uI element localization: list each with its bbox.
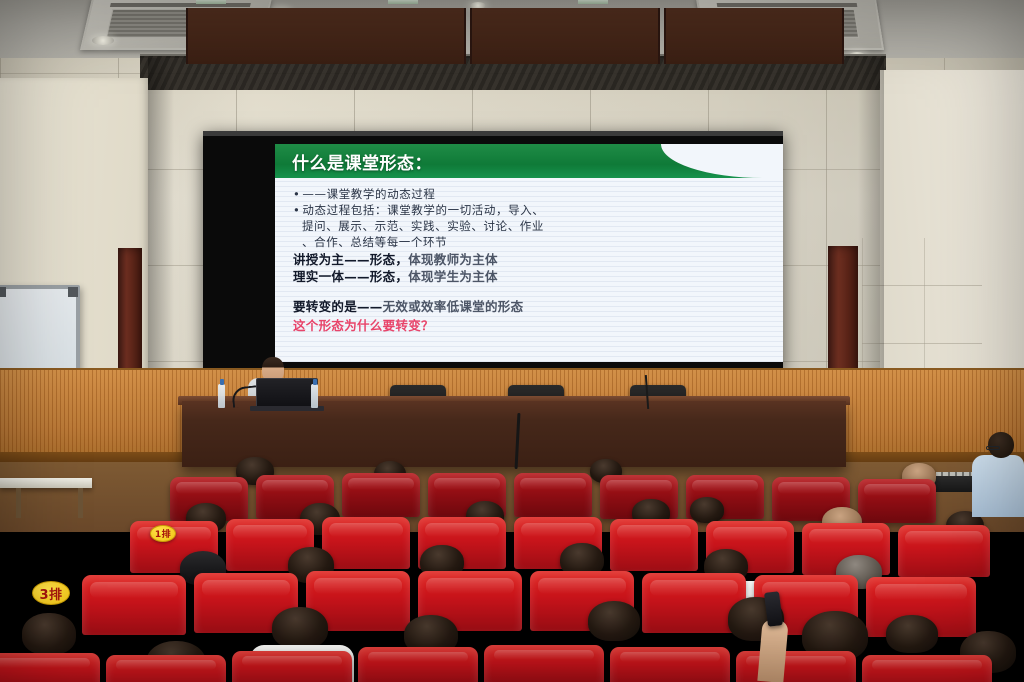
seat[interactable] [82, 575, 186, 635]
audience-area: 1排 3排 [0, 455, 1024, 682]
seat[interactable] [514, 473, 592, 517]
slide-bullet-2-line-1: 动态过程包括：课堂教学的一切活动，导入、 [302, 203, 544, 217]
attendee-head [886, 615, 938, 653]
slide-emphasis-line: 要转变的是——无效或效率低课堂的形态 [293, 298, 769, 315]
table-front-panel [186, 8, 466, 64]
lecture-hall-photo: 什么是课堂形态： •——课堂教学的动态过程 •动态过程包括：课堂教学的一切活动，… [0, 0, 1024, 682]
presentation-slide: 什么是课堂形态： •——课堂教学的动态过程 •动态过程包括：课堂教学的一切活动，… [275, 144, 783, 362]
slide-bullet-1-line-1: ——课堂教学的动态过程 [302, 187, 435, 201]
water-bottle [218, 384, 225, 408]
slide-bold-line-1: 讲授为主——形态，体现教师为主体 [293, 251, 769, 268]
slide-spacer [293, 285, 769, 298]
projection-screen: 什么是课堂形态： •——课堂教学的动态过程 •动态过程包括：课堂教学的一切活动，… [203, 131, 783, 371]
slide-bold-line-1-lead: 讲授为主——形态， [293, 252, 408, 267]
av-operator-head [988, 432, 1014, 458]
seat[interactable] [106, 655, 226, 682]
attendee-head [272, 607, 328, 649]
slide-bold-line-2: 理实一体——形态，体现学生为主体 [293, 268, 769, 285]
slide-banner: 什么是课堂形态： [275, 144, 783, 178]
slide-body: •——课堂教学的动态过程 •动态过程包括：课堂教学的一切活动，导入、 提问、展示… [275, 178, 783, 334]
name-card [196, 0, 226, 4]
seat[interactable] [322, 517, 410, 569]
slide-bold-line-1-rest: 体现教师为主体 [408, 252, 498, 267]
glasses-icon [986, 446, 1000, 450]
slide-bullet-2-line-2: 提问、展示、示范、实践、实验、讨论、作业 [293, 219, 769, 234]
seat[interactable] [342, 473, 420, 517]
slide-bullet-1: •——课堂教学的动态过程 [293, 187, 769, 202]
seat[interactable] [610, 519, 698, 571]
row-marker: 1排 [150, 525, 176, 542]
name-card [578, 0, 608, 4]
slide-title: 什么是课堂形态： [292, 149, 432, 174]
attendee-arm [757, 619, 788, 682]
slide-question-line: 这个形态为什么要转变？ [293, 315, 769, 334]
seat[interactable] [610, 647, 730, 682]
row-marker-3: 3排 [32, 581, 70, 605]
bullet-dot-icon: • [293, 203, 300, 217]
slide-emphasis-rest: 无效或效率低课堂的形态 [383, 299, 524, 314]
downlight-icon [92, 36, 114, 45]
water-bottle [311, 384, 318, 408]
table-front-panel [664, 8, 844, 64]
attendee-head [690, 497, 724, 523]
seat[interactable] [0, 653, 100, 682]
seat[interactable] [898, 525, 990, 577]
slide-bold-line-2-lead: 理实一体——形态， [293, 269, 408, 284]
seat[interactable] [858, 479, 936, 523]
attendee-head [22, 613, 76, 655]
slide-bullet-2: •动态过程包括：课堂教学的一切活动，导入、 [293, 203, 769, 218]
laptop[interactable] [256, 378, 318, 408]
slide-bullet-2-line-3: 、合作、总结等每一个环节 [293, 235, 769, 250]
seat[interactable] [862, 655, 992, 682]
seat[interactable] [358, 647, 478, 682]
seat[interactable] [736, 651, 856, 682]
seat[interactable] [484, 645, 604, 682]
attendee-head [588, 601, 640, 641]
slide-emphasis-lead: 要转变的是—— [293, 299, 383, 314]
table-front-panel [470, 8, 660, 64]
seat[interactable] [232, 651, 352, 682]
name-card [388, 0, 418, 4]
bullet-dot-icon: • [293, 187, 300, 201]
av-operator-torso [972, 455, 1024, 517]
slide-bold-line-2-rest: 体现学生为主体 [408, 269, 498, 284]
